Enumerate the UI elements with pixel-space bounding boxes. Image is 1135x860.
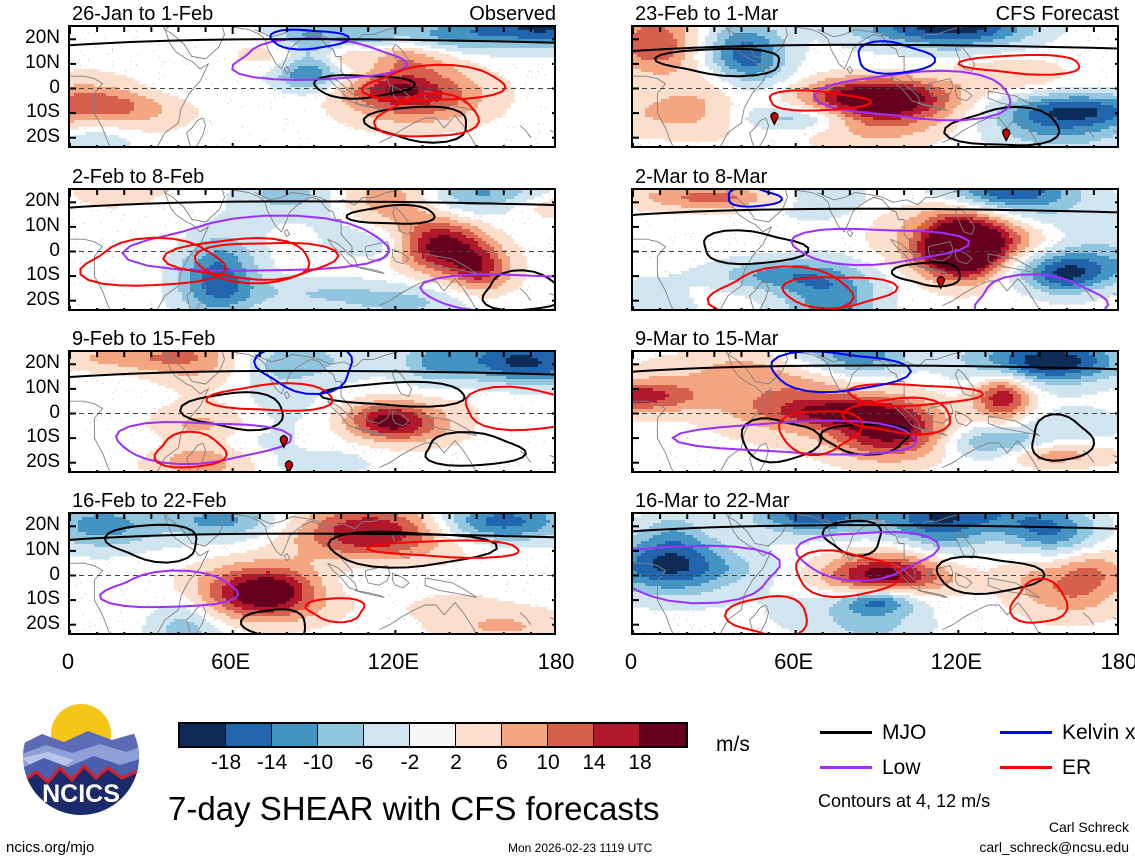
shear-anomaly-map	[70, 27, 556, 148]
ncics-logo: NCICS	[22, 698, 140, 816]
x-axis-tick-label: 180	[516, 651, 596, 673]
colorbar-units-label: m/s	[716, 734, 750, 755]
colorbar-swatch	[410, 724, 456, 746]
legend-label: MJO	[882, 722, 926, 743]
panel-title: 2-Mar to 8-Mar	[635, 167, 767, 187]
shear-anomaly-map	[70, 352, 556, 473]
legend-line-mjo	[820, 731, 872, 734]
panel-title: 16-Feb to 22-Feb	[72, 491, 227, 511]
y-axis-tick-label: 20N	[0, 28, 60, 47]
shear-anomaly-map	[70, 190, 556, 311]
y-axis-tick-label: 0	[0, 78, 60, 97]
panel-title: 9-Mar to 15-Mar	[635, 329, 778, 349]
x-axis-tick-label: 180	[1079, 651, 1135, 673]
x-axis-tick-label: 60E	[191, 651, 271, 673]
colorbar-swatch	[318, 724, 364, 746]
y-axis-tick-label: 20S	[0, 127, 60, 146]
shear-anomaly-map	[633, 27, 1119, 148]
column-header-observed: Observed	[68, 4, 556, 24]
colorbar-swatch	[272, 724, 318, 746]
column-header-forecast: CFS Forecast	[631, 4, 1119, 24]
panel-title: 2-Feb to 8-Feb	[72, 167, 204, 187]
author-name-label: Carl Schreck	[933, 820, 1129, 834]
shear-anomaly-map	[633, 352, 1119, 473]
site-url-label: ncics.org/mjo	[6, 840, 94, 855]
y-axis-tick-label: 10N	[0, 53, 60, 72]
colorbar-swatch	[594, 724, 640, 746]
legend-line-er	[1000, 766, 1052, 769]
contour-interval-note: Contours at 4, 12 m/s	[818, 792, 990, 810]
shear-anomaly-map	[70, 514, 556, 635]
legend-line-low	[820, 766, 872, 769]
shading-layer	[74, 190, 556, 311]
y-axis-tick-label: 10S	[0, 265, 60, 284]
y-axis-tick-label: 20S	[0, 614, 60, 633]
y-axis-tick-label: 10S	[0, 589, 60, 608]
colorbar-swatch	[364, 724, 410, 746]
x-axis-tick-label: 120E	[353, 651, 433, 673]
x-axis-tick-label: 120E	[916, 651, 996, 673]
panel-title: 9-Feb to 15-Feb	[72, 329, 215, 349]
y-axis-tick-label: 0	[0, 241, 60, 260]
colorbar	[178, 722, 688, 748]
y-axis-tick-label: 10N	[0, 540, 60, 559]
y-axis-tick-label: 0	[0, 565, 60, 584]
legend-label: Kelvin x2	[1062, 722, 1135, 743]
colorbar-tick-label: 18	[600, 752, 680, 773]
page-title: 7-day SHEAR with CFS forecasts	[168, 792, 660, 825]
colorbar-swatch	[180, 724, 226, 746]
ncics-logo-text: NCICS	[42, 780, 120, 808]
shading-layer	[70, 27, 556, 148]
x-axis-tick-label: 0	[28, 651, 108, 673]
author-email-label: carl_schreck@ncsu.edu	[919, 840, 1129, 854]
y-axis-tick-label: 20S	[0, 290, 60, 309]
y-axis-tick-label: 20S	[0, 452, 60, 471]
map-frame	[631, 25, 1119, 148]
map-frame	[68, 188, 556, 311]
y-axis-tick-label: 10S	[0, 102, 60, 121]
map-frame	[68, 350, 556, 473]
map-frame	[68, 512, 556, 635]
y-axis-tick-label: 10N	[0, 216, 60, 235]
x-axis-tick-label: 60E	[754, 651, 834, 673]
ncics-logo-graphic: NCICS	[22, 698, 140, 816]
map-frame	[68, 25, 556, 148]
map-frame	[631, 512, 1119, 635]
colorbar-swatch	[640, 724, 686, 746]
shear-anomaly-map	[633, 190, 1119, 311]
timestamp-label: Mon 2026-02-23 1119 UTC	[508, 842, 652, 854]
panel-title: 16-Mar to 22-Mar	[635, 491, 790, 511]
colorbar-swatch	[456, 724, 502, 746]
y-axis-tick-label: 10N	[0, 378, 60, 397]
legend-label: Low	[882, 757, 921, 778]
x-axis-tick-label: 0	[591, 651, 671, 673]
colorbar-swatch	[226, 724, 272, 746]
y-axis-tick-label: 20N	[0, 353, 60, 372]
legend-label: ER	[1062, 757, 1091, 778]
colorbar-swatch	[502, 724, 548, 746]
map-frame	[631, 350, 1119, 473]
y-axis-tick-label: 10S	[0, 427, 60, 446]
y-axis-tick-label: 20N	[0, 191, 60, 210]
y-axis-tick-label: 0	[0, 403, 60, 422]
colorbar-swatch	[548, 724, 594, 746]
map-frame	[631, 188, 1119, 311]
legend-line-kelvin-x2	[1000, 731, 1052, 734]
shear-anomaly-map	[633, 514, 1119, 635]
y-axis-tick-label: 20N	[0, 515, 60, 534]
